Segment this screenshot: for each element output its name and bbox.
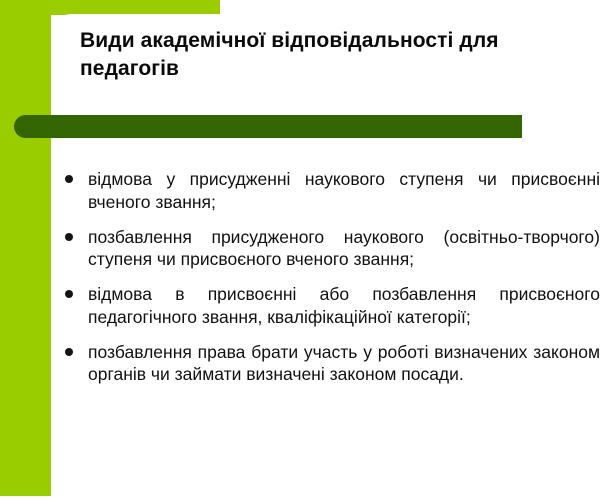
list-item: відмова у присудженні наукового ступеня … xyxy=(62,168,600,214)
bullet-dot-icon xyxy=(65,290,73,298)
slide-canvas: Види академічної відповідальності для пе… xyxy=(0,0,616,498)
bullet-dot-icon xyxy=(65,348,73,356)
bullet-dot-icon xyxy=(65,175,73,183)
list-item: позбавлення права брати участь у роботі … xyxy=(62,341,600,387)
top-green-band xyxy=(0,0,220,15)
list-item-label: відмова у присудженні наукового ступеня … xyxy=(88,168,600,214)
page-title: Види академічної відповідальності для пе… xyxy=(80,27,580,84)
title-underline-bar xyxy=(14,115,522,138)
bullet-dot-icon xyxy=(65,233,73,241)
list-item: відмова в присвоєнні або позбавлення при… xyxy=(62,283,600,329)
list-item: позбавлення присудженого наукового (осві… xyxy=(62,226,600,272)
bullet-list: відмова у присудженні наукового ступеня … xyxy=(62,168,600,386)
list-item-label: позбавлення права брати участь у роботі … xyxy=(88,341,600,387)
list-item-label: відмова в присвоєнні або позбавлення при… xyxy=(88,283,600,329)
left-green-band xyxy=(0,0,51,496)
list-item-label: позбавлення присудженого наукового (осві… xyxy=(88,226,600,272)
